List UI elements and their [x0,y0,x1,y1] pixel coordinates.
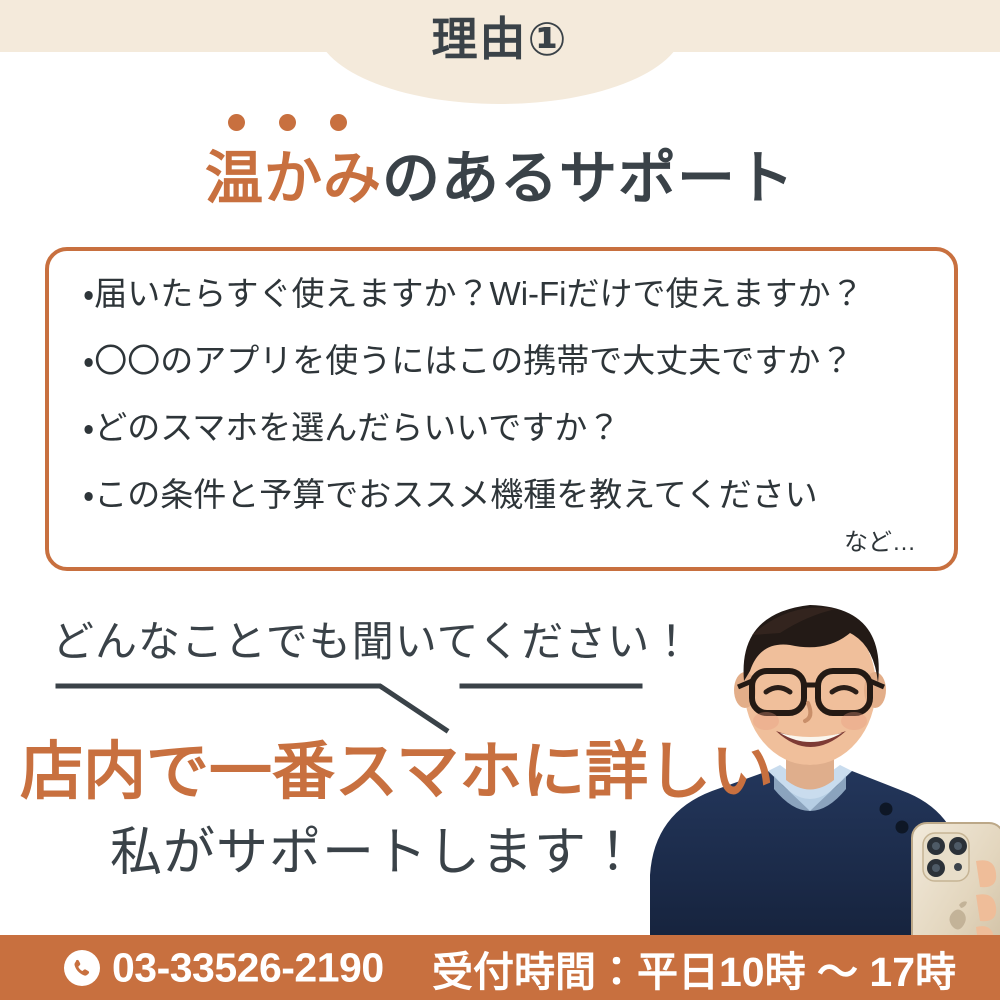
emphasis-dots [228,114,347,131]
question-box: ・届いたらすぐ使えますか？Wi-Fiだけで使えますか？ ・〇〇のアプリを使うには… [45,247,958,571]
banner-title: 理由① [0,16,1000,62]
main-title: 温かみのあるサポート [0,146,1000,213]
list-item: ・届いたらすぐ使えますか？Wi-Fiだけで使えますか？ [83,277,934,310]
poster-root: 理由① 温かみのあるサポート ・届いたらすぐ使えますか？Wi-Fiだけで使えます… [0,0,1000,1000]
ask-line: どんなことでも聞いてください！ [52,608,693,669]
list-item: ・この条件と予算でおススメ機種を教えてください [83,478,934,511]
question-list: ・届いたらすぐ使えますか？Wi-Fiだけで使えますか？ ・〇〇のアプリを使うには… [83,277,934,511]
main-title-rest: のあるサポート [382,146,795,211]
speech-bubble-underline-icon [40,672,700,736]
list-item: ・〇〇のアプリを使うにはこの携帯で大丈夫ですか？ [83,344,934,377]
page-subheadline: 私がサポートします！ [110,826,640,881]
phone-number[interactable]: 03-33526-2190 [112,944,384,991]
emphasis-dot-icon [228,114,245,131]
main-title-accent: 温かみ [205,146,382,211]
business-hours: 受付時間：平日10時 〜 17時 [432,938,956,998]
page-headline: 店内で一番スマホに詳しい [20,739,774,805]
emphasis-dot-icon [279,114,296,131]
sweater-button [880,803,893,816]
emphasis-dot-icon [330,114,347,131]
phone-icon [64,950,100,986]
list-item: ・どのスマホを選んだらいいですか？ [83,411,934,444]
sweater-button [896,821,909,834]
etc-label: など… [844,522,916,557]
footer-bar: 03-33526-2190 受付時間：平日10時 〜 17時 [0,935,1000,1000]
